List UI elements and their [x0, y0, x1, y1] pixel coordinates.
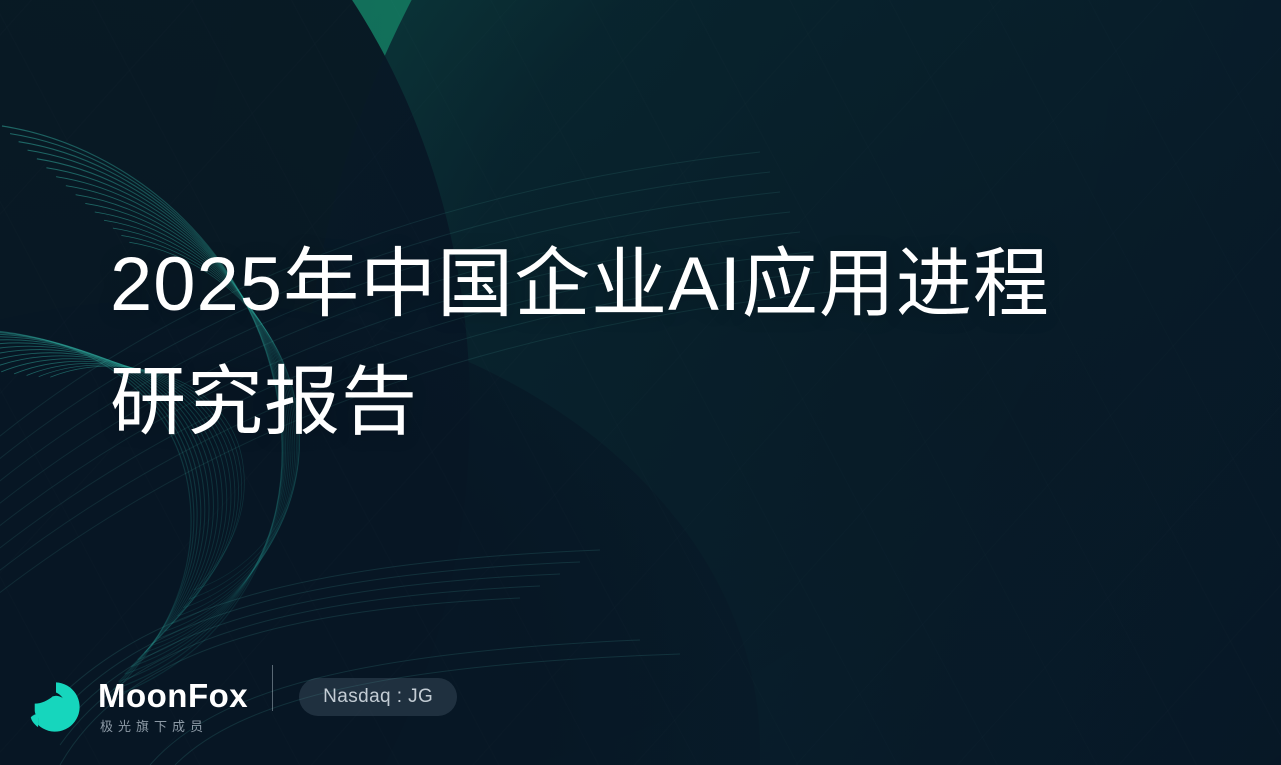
status-badge: Nasdaq : JG: [299, 678, 457, 716]
page-title: 2025年中国企业AI应用进程 研究报告: [110, 226, 1240, 462]
brand-name: MoonFox: [98, 678, 248, 714]
brand-footer: MoonFox 极光旗下成员 Nasdaq : JG: [28, 675, 457, 739]
brand-divider: [272, 665, 273, 711]
brand-subtitle: 极光旗下成员: [98, 718, 248, 736]
page-title-line-2: 研究报告: [110, 344, 1240, 462]
page-title-line-1: 2025年中国企业AI应用进程: [110, 226, 1240, 344]
moonfox-logo-icon: [28, 679, 84, 735]
brand-text-block: MoonFox 极光旗下成员: [98, 678, 248, 736]
report-cover-slide: 2025年中国企业AI应用进程 研究报告 MoonFox 极光旗下成员 Nasd…: [0, 0, 1281, 765]
